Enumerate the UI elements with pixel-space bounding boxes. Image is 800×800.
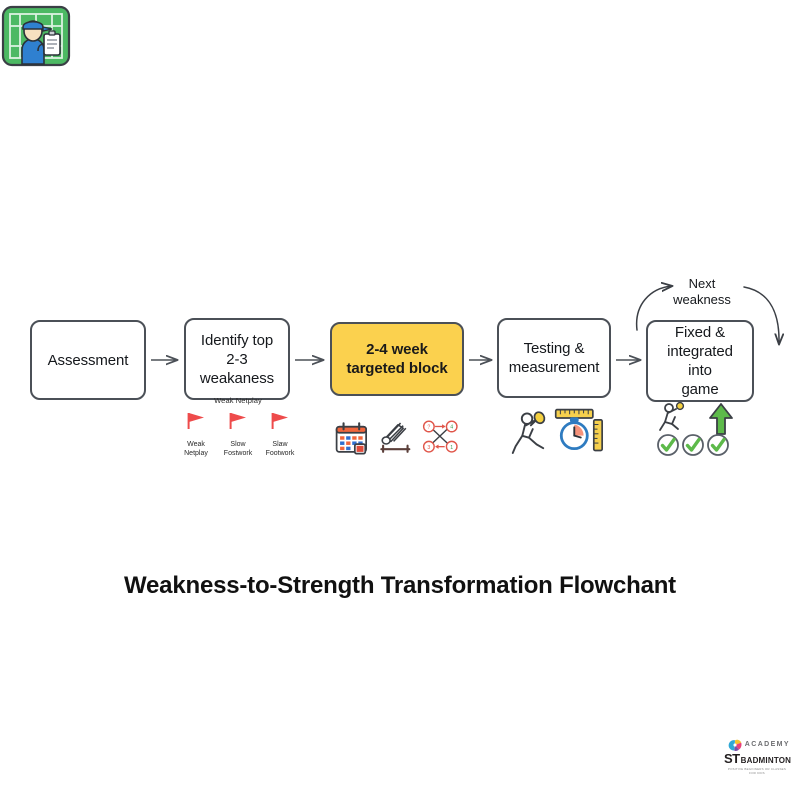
- drill-diagram-icon: ? 4 3 1: [421, 418, 460, 456]
- loop-caption-line-2: weakness: [673, 292, 731, 307]
- fixed-line-1: Fixed &: [675, 324, 725, 341]
- identify-line-2: 2-3: [226, 351, 247, 368]
- flow-node-fixed-integrated[interactable]: Fixed & integrated into game: [646, 320, 754, 402]
- weakness-flag-label: Weak Netplay: [176, 440, 216, 458]
- brand-logo: ACADEMY ST BADMINTON POSITIVE BEGINNERS …: [724, 738, 790, 768]
- testing-line-1: Testing &: [524, 340, 585, 357]
- logo-badminton-text: BADMINTON: [741, 756, 792, 765]
- flow-node-identify[interactable]: Identify top 2-3 weakaness: [184, 318, 290, 400]
- check-circle-icon: [683, 435, 703, 455]
- weakness-flag-label: Slow Fostwork: [218, 440, 258, 458]
- svg-text:4: 4: [451, 425, 454, 431]
- green-up-arrow-icon: [710, 404, 732, 434]
- flow-node-assessment-label: Assessment: [48, 351, 129, 370]
- svg-text:1: 1: [451, 445, 454, 451]
- block-line-1: 2-4 week: [366, 341, 428, 358]
- flow-node-targeted-block[interactable]: 2-4 week targeted block: [330, 322, 464, 396]
- badminton-player-icon: [660, 404, 678, 430]
- fixed-line-2: integrated into: [667, 343, 733, 379]
- fixed-integrated-icon-row: [655, 400, 747, 458]
- red-flag-icon: [268, 411, 292, 433]
- red-flag-icon: [184, 411, 208, 433]
- identify-sub-caption: Weak Netplay: [176, 396, 300, 405]
- weakness-flag-item: Weak Netplay: [176, 411, 216, 458]
- loop-caption-line-1: Next: [689, 276, 716, 291]
- badminton-court-coach-clipboard-icon: [0, 0, 72, 72]
- flowchart-canvas: Assessment: [0, 0, 800, 800]
- flow-node-testing-label: Testing & measurement: [509, 339, 600, 377]
- red-flag-icon: [226, 411, 250, 433]
- page-title: Weakness-to-Strength Transformation Flow…: [0, 572, 800, 600]
- check-circle-icon: [708, 435, 728, 455]
- shuttle-ball-icon: [677, 403, 684, 410]
- logo-academy-text: ACADEMY: [745, 741, 790, 748]
- flow-node-assessment[interactable]: Assessment: [30, 320, 146, 400]
- weakness-flag-item: Slow Fostwork: [218, 411, 258, 458]
- flow-node-identify-label: Identify top 2-3 weakaness: [200, 331, 274, 388]
- flow-node-testing[interactable]: Testing & measurement: [497, 318, 611, 398]
- block-line-2: targeted block: [346, 360, 447, 377]
- identify-line-3: weakaness: [200, 370, 274, 387]
- loop-caption: Next weakness: [664, 276, 740, 308]
- weakness-flag-cluster: Weak Netplay Weak Netplay Slow: [176, 396, 300, 458]
- check-circle-icon: [658, 435, 678, 455]
- flow-node-targeted-block-label: 2-4 week targeted block: [346, 340, 447, 378]
- svg-text:?: ?: [428, 425, 431, 431]
- ruler-stopwatch-icon: [552, 406, 604, 456]
- weakness-flag-label: Slaw Footwork: [260, 440, 300, 458]
- svg-text:3: 3: [428, 445, 431, 451]
- badminton-player-icon: [508, 408, 548, 456]
- colorful-shuttlecock-logo-icon: [727, 738, 743, 752]
- logo-tagline: POSITIVE BEGINNERS OR CLASSES FOR KIDS: [724, 767, 790, 775]
- calendar-icon: [334, 420, 369, 456]
- fixed-line-3: game: [681, 381, 718, 398]
- targeted-block-icon-row: ? 4 3 1: [334, 408, 460, 456]
- testing-line-2: measurement: [509, 359, 600, 376]
- shuttlecock-ruler-icon: [377, 418, 414, 456]
- weakness-flag-item: Slaw Footwork: [260, 411, 300, 458]
- flow-node-fixed-integrated-label: Fixed & integrated into game: [654, 323, 746, 399]
- testing-icon-row: [505, 400, 607, 456]
- logo-st-text: ST: [724, 751, 740, 766]
- identify-line-1: Identify top: [201, 332, 273, 349]
